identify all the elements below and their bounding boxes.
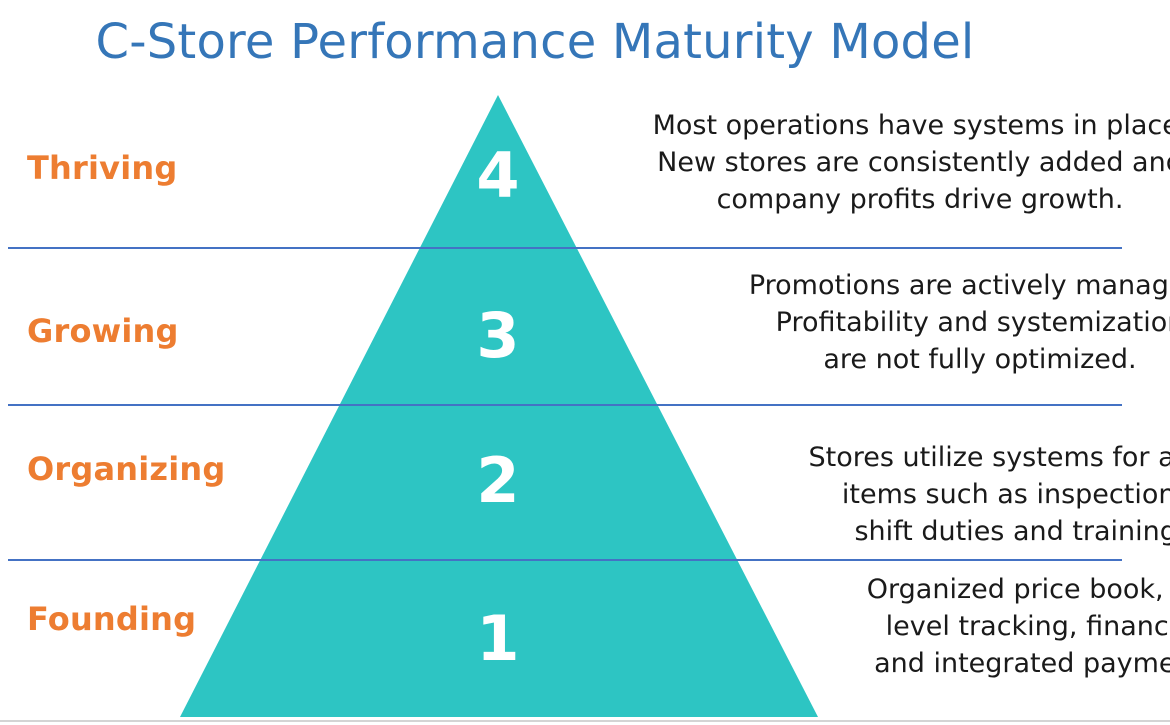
tier-label-thriving: Thriving (27, 149, 177, 187)
tier-number-2: 2 (428, 450, 568, 512)
tier-description-thriving: Most operations have systems in place. N… (640, 108, 1170, 219)
tier-label-founding: Founding (27, 600, 196, 638)
tier-description-organizing: Stores utilize systems for a few items s… (740, 440, 1170, 551)
tier-divider-3 (8, 559, 1122, 561)
tier-description-growing: Promotions are actively managed. Profita… (700, 268, 1170, 379)
tier-label-growing: Growing (27, 312, 179, 350)
tier-number-4: 4 (428, 145, 568, 207)
tier-number-1: 1 (428, 608, 568, 670)
tier-number-3: 3 (428, 305, 568, 367)
tier-divider-2 (8, 404, 1122, 406)
bottom-rule (0, 720, 1170, 722)
tier-description-founding: Organized price book, item level trackin… (770, 572, 1170, 683)
maturity-model-slide: C-Store Performance Maturity Model 4 3 2… (0, 0, 1170, 725)
tier-divider-1 (8, 247, 1122, 249)
tier-label-organizing: Organizing (27, 450, 226, 488)
